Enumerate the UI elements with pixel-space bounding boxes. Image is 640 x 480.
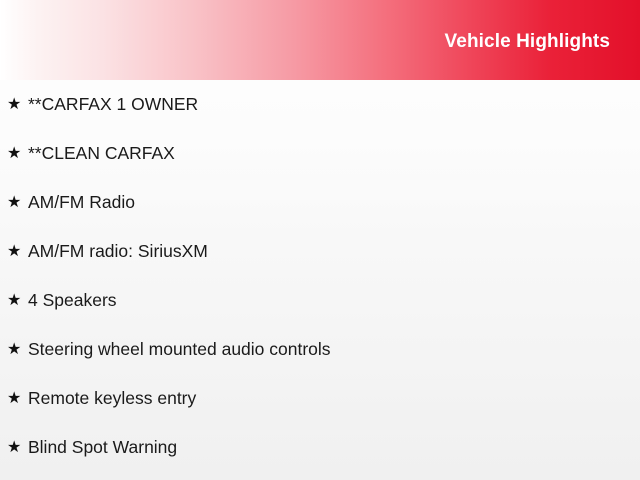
- list-item-label: **CLEAN CARFAX: [28, 143, 640, 164]
- star-icon: ★: [7, 244, 28, 260]
- star-icon: ★: [7, 195, 28, 211]
- list-item: ★ Remote keyless entry: [0, 374, 640, 423]
- list-item: ★ Steering wheel mounted audio controls: [0, 325, 640, 374]
- list-item-label: Remote keyless entry: [28, 388, 640, 409]
- star-icon: ★: [7, 293, 28, 309]
- star-icon: ★: [7, 440, 28, 456]
- list-item: ★ AM/FM Radio: [0, 178, 640, 227]
- list-item: ★ **CLEAN CARFAX: [0, 129, 640, 178]
- vehicle-highlights-page: Vehicle Highlights ★ **CARFAX 1 OWNER ★ …: [0, 0, 640, 480]
- list-item-label: AM/FM radio: SiriusXM: [28, 241, 640, 262]
- list-item-label: AM/FM Radio: [28, 192, 640, 213]
- list-item: ★ 4 Speakers: [0, 276, 640, 325]
- star-icon: ★: [7, 146, 28, 162]
- star-icon: ★: [7, 342, 28, 358]
- star-icon: ★: [7, 391, 28, 407]
- vehicle-highlights-list: ★ **CARFAX 1 OWNER ★ **CLEAN CARFAX ★ AM…: [0, 80, 640, 472]
- list-item-label: Steering wheel mounted audio controls: [28, 339, 640, 360]
- list-item-label: 4 Speakers: [28, 290, 640, 311]
- list-item-label: **CARFAX 1 OWNER: [28, 94, 640, 115]
- list-item-label: Blind Spot Warning: [28, 437, 640, 458]
- star-icon: ★: [7, 97, 28, 113]
- page-title: Vehicle Highlights: [445, 32, 610, 51]
- list-item: ★ Blind Spot Warning: [0, 423, 640, 472]
- header-banner: Vehicle Highlights: [0, 0, 640, 80]
- list-item: ★ **CARFAX 1 OWNER: [0, 80, 640, 129]
- list-item: ★ AM/FM radio: SiriusXM: [0, 227, 640, 276]
